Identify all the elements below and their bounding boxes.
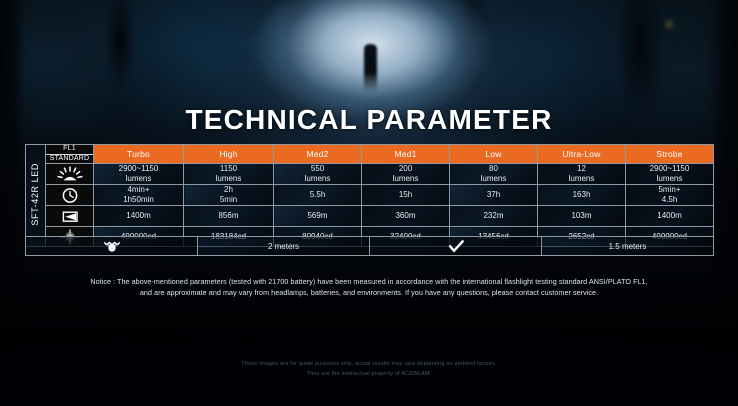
cell-distance-turbo: 1400m xyxy=(94,206,184,227)
cell-distance-ultra-low: 103m xyxy=(538,206,626,227)
table-row-runtime: 4min+ 1h50min 2h 5min 5.5h 15h xyxy=(26,185,714,206)
cell-line1: 37h xyxy=(450,190,537,200)
mode-header-high[interactable]: High xyxy=(184,145,274,164)
cell-lumens-med1: 200 lumens xyxy=(362,164,450,185)
cell-line1: 2h xyxy=(184,185,273,195)
cell-lumens-strobe: 2900~1150 lumens xyxy=(626,164,714,185)
footer-line-1: These images are for guide purposes only… xyxy=(0,360,738,370)
cell-lumens-low: 80 lumens xyxy=(450,164,538,185)
cell-line1: 200 xyxy=(362,164,449,174)
cell-line1: 4min+ xyxy=(94,185,183,195)
mode-header-ultra-low[interactable]: Ultra-Low xyxy=(538,145,626,164)
table-header-row: SFT-42R LED FL1 STANDARD Turbo High Med2… xyxy=(26,145,714,164)
cell-line1: 360m xyxy=(362,211,449,221)
technical-parameter-table: SFT-42R LED FL1 STANDARD Turbo High Med2… xyxy=(25,144,713,247)
cell-line2: lumens xyxy=(538,174,625,184)
cell-runtime-strobe: 5min+ 4.5h xyxy=(626,185,714,206)
cell-distance-med2: 569m xyxy=(274,206,362,227)
page-title: TECHNICAL PARAMETER xyxy=(0,104,738,136)
cell-distance-high: 856m xyxy=(184,206,274,227)
notice-line-2: and are approximate and may vary from he… xyxy=(140,288,598,297)
cell-line2: lumens xyxy=(362,174,449,184)
footer-disclaimer: These images are for guide purposes only… xyxy=(0,360,738,380)
cell-line1: 2900~1150 xyxy=(94,164,183,174)
cell-distance-med1: 360m xyxy=(362,206,450,227)
cell-distance-strobe: 1400m xyxy=(626,206,714,227)
impact-waterproof-strip: 2 meters 1.5 meters xyxy=(25,236,713,256)
waterproof-check-icon xyxy=(370,237,542,256)
cell-line2: lumens xyxy=(626,174,713,184)
product-spec-page: TECHNICAL PARAMETER SFT-42R LED xyxy=(0,0,738,406)
impact-resistance-value: 2 meters xyxy=(198,237,370,256)
cell-line1: 5.5h xyxy=(274,190,361,200)
cell-line1: 569m xyxy=(274,211,361,221)
table-row-lumens: 2900~1150 lumens 1150 lumens 550 lumens … xyxy=(26,164,714,185)
cell-line1: 5min+ xyxy=(626,185,713,195)
mode-header-turbo[interactable]: Turbo xyxy=(94,145,184,164)
cell-runtime-low: 37h xyxy=(450,185,538,206)
footer-line-2: They are the intellectual property of AC… xyxy=(0,370,738,380)
fl1-standard-line2: STANDARD xyxy=(46,155,93,164)
table-row-beam-distance: 1400m 856m 569m 360m 232m 103m xyxy=(26,206,714,227)
cell-line1: 232m xyxy=(450,211,537,221)
cell-runtime-turbo: 4min+ 1h50min xyxy=(94,185,184,206)
cell-line1: 163h xyxy=(538,190,625,200)
cell-line2: 4.5h xyxy=(626,195,713,205)
cell-lumens-med2: 550 lumens xyxy=(274,164,362,185)
background-figure-silhouette xyxy=(364,44,377,92)
beam-distance-icon xyxy=(46,206,94,227)
cell-lumens-high: 1150 lumens xyxy=(184,164,274,185)
cell-line1: 856m xyxy=(184,211,273,221)
cell-runtime-med2: 5.5h xyxy=(274,185,362,206)
cell-line1: 1400m xyxy=(94,211,183,221)
cell-line2: lumens xyxy=(274,174,361,184)
led-type-label: SFT-42R LED xyxy=(26,145,46,247)
lumens-burst-icon xyxy=(46,164,94,185)
clock-runtime-icon xyxy=(46,185,94,206)
mode-header-med1[interactable]: Med1 xyxy=(362,145,450,164)
notice-text: Notice : The above-mentioned parameters … xyxy=(40,276,698,298)
led-type-text: SFT-42R LED xyxy=(30,163,41,226)
cell-line1: 12 xyxy=(538,164,625,174)
cell-line2: lumens xyxy=(184,174,273,184)
cell-distance-low: 232m xyxy=(450,206,538,227)
fl1-standard-line1: FL1 xyxy=(46,145,93,155)
cell-line1: 550 xyxy=(274,164,361,174)
cell-line1: 1400m xyxy=(626,211,713,221)
cell-runtime-ultra-low: 163h xyxy=(538,185,626,206)
water-resistance-value: 1.5 meters xyxy=(542,237,714,256)
mode-header-strobe[interactable]: Strobe xyxy=(626,145,714,164)
cell-line2: 5min xyxy=(184,195,273,205)
cell-line1: 2900~1150 xyxy=(626,164,713,174)
cell-line1: 80 xyxy=(450,164,537,174)
fl1-standard-header: FL1 STANDARD xyxy=(46,145,94,164)
cell-line2: lumens xyxy=(450,174,537,184)
cell-lumens-ultra-low: 12 lumens xyxy=(538,164,626,185)
cell-line2: 1h50min xyxy=(94,195,183,205)
cell-lumens-turbo: 2900~1150 lumens xyxy=(94,164,184,185)
strip-row: 2 meters 1.5 meters xyxy=(26,237,714,256)
cell-line1: 15h xyxy=(362,190,449,200)
cell-runtime-med1: 15h xyxy=(362,185,450,206)
mode-header-low[interactable]: Low xyxy=(450,145,538,164)
cell-line1: 103m xyxy=(538,211,625,221)
impact-resistance-icon xyxy=(26,237,198,256)
cell-runtime-high: 2h 5min xyxy=(184,185,274,206)
notice-line-1: Notice : The above-mentioned parameters … xyxy=(90,277,647,286)
cell-line2: lumens xyxy=(94,174,183,184)
background-bokeh-spot xyxy=(663,18,676,31)
cell-line1: 1150 xyxy=(184,164,273,174)
mode-header-med2[interactable]: Med2 xyxy=(274,145,362,164)
